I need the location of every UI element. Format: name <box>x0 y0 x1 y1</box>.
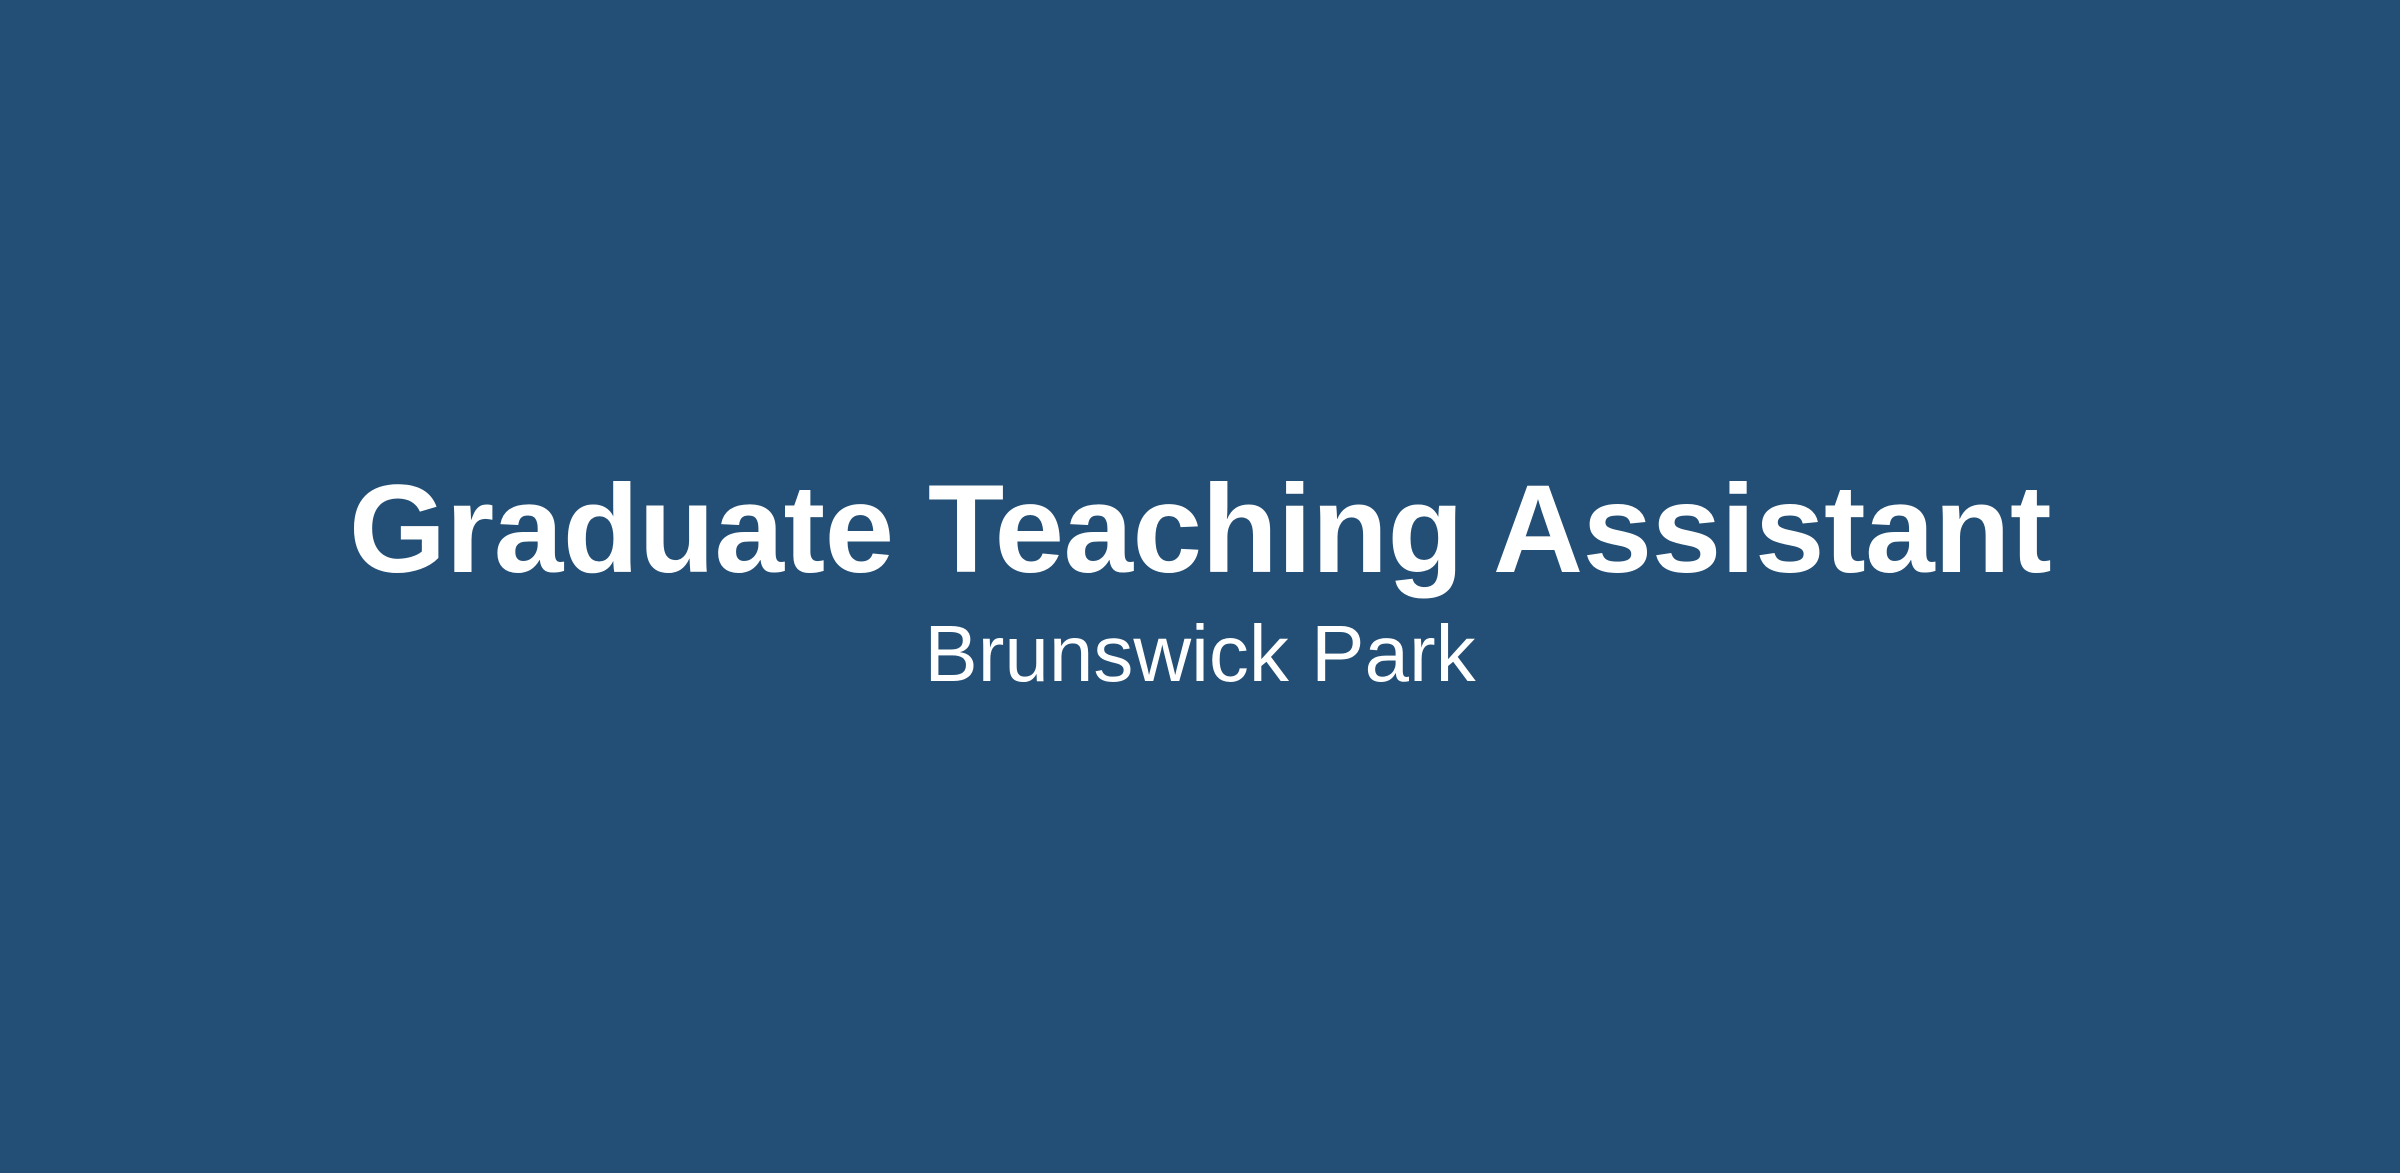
hero-text-block: Graduate Teaching Assistant Brunswick Pa… <box>0 467 2400 694</box>
job-title: Graduate Teaching Assistant <box>0 467 2400 592</box>
job-posting-banner: Graduate Teaching Assistant Brunswick Pa… <box>0 0 2400 1173</box>
job-location: Brunswick Park <box>0 614 2400 694</box>
